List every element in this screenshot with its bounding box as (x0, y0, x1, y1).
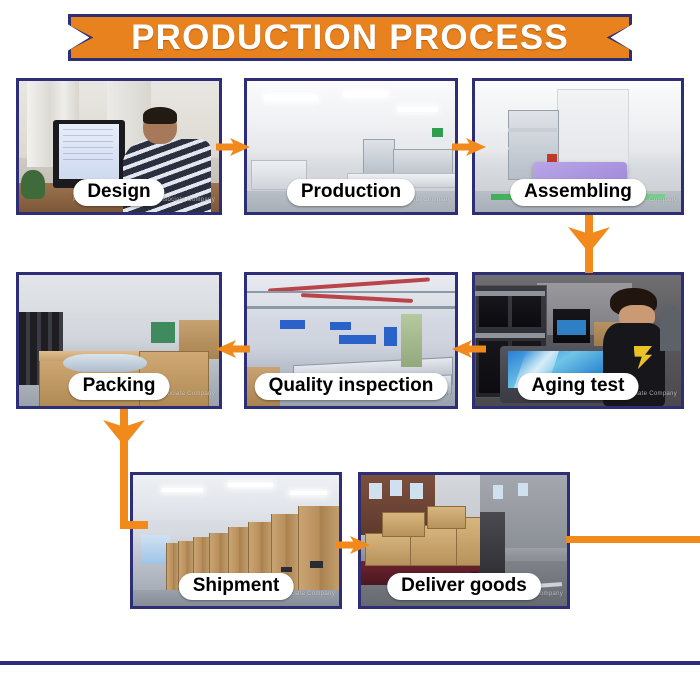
scene-blue-sign-2 (330, 322, 351, 330)
arrow-shaft (336, 542, 356, 549)
scene-ceiling-light-2 (228, 483, 273, 487)
scene-pipe-2 (247, 306, 455, 309)
scene-plant (21, 170, 45, 199)
scene-window-2 (390, 480, 402, 496)
arrow-quality-inspection-to-packing (216, 340, 250, 358)
step-panel-quality-inspection[interactable]: Professional Manufacturer's Associate Co… (244, 272, 458, 409)
step-label-shipment: Shipment (179, 573, 294, 600)
step-panel-design[interactable]: Professional Manufacturer's Associate Co… (16, 78, 222, 215)
scene-window-1 (369, 483, 381, 499)
step-label-assembling: Assembling (510, 179, 646, 206)
step-panel-aging-test[interactable]: Professional Manufacturer's Associate Co… (472, 272, 684, 409)
scene-wall-panel (557, 89, 629, 172)
scene-box-label-1 (281, 567, 291, 572)
scene-ceiling-light-1 (162, 488, 203, 492)
scene-designer-hair (143, 107, 177, 124)
scene-door (401, 314, 422, 366)
step-panel-production[interactable]: Professional Manufacturer's Associate Co… (244, 78, 458, 215)
scene-window-4 (493, 485, 503, 498)
arrow-shaft (230, 346, 250, 353)
scene-cad-drawing (63, 129, 113, 163)
scene-box-label-2 (310, 561, 322, 568)
scene-blue-sign-4 (384, 327, 396, 345)
scene-worker-4 (382, 139, 405, 173)
arrow-shaft (452, 144, 472, 151)
scene-blue-sign-1 (280, 320, 305, 329)
scene-ceiling-light-3 (397, 107, 439, 112)
scene-crate-4 (382, 512, 425, 538)
scene-worker-5 (405, 141, 426, 172)
arrow-aging-test-to-quality-inspection (452, 340, 486, 358)
step-label-design: Design (73, 179, 164, 206)
scene-blue-sign-3 (339, 335, 376, 344)
scene-window-5 (518, 483, 528, 496)
step-panel-assembling[interactable]: Professional Manufacturer's Associate Co… (472, 78, 684, 215)
arrow-design-to-production (216, 138, 250, 156)
step-panel-packing[interactable]: Professional Manufacturer's Associate Co… (16, 272, 222, 409)
scene-window-3 (410, 483, 422, 499)
scene-display-back-screen (557, 320, 586, 336)
scene-stacked-panel-1 (479, 296, 508, 327)
arrow-shaft-vertical (120, 409, 128, 529)
scene-ceiling-light-1 (264, 95, 318, 100)
arrow-shaft (585, 215, 593, 273)
scene-truck-cab (480, 512, 505, 580)
step-label-aging-test: Aging test (518, 373, 639, 400)
step-panel-shipment[interactable]: Professional Manufacturer's Associate Co… (130, 472, 342, 609)
scene-exit-sign (432, 128, 442, 137)
scene-crate-1 (365, 533, 412, 566)
arrow-deliver-goods-to-end (566, 536, 700, 543)
scene-crate-5 (427, 506, 466, 529)
step-label-packing: Packing (69, 373, 170, 400)
scene-ceiling-light-3 (290, 491, 327, 495)
arrow-shaft (216, 144, 236, 151)
arrow-shaft-horizontal (120, 521, 148, 529)
scene-ceiling-light-2 (343, 91, 389, 96)
arrow-shaft (466, 346, 486, 353)
step-panel-deliver-goods[interactable]: Professional Manufacturer's Associate Co… (358, 472, 570, 609)
scene-stacked-panel-2 (512, 296, 541, 327)
bottom-divider (0, 661, 700, 665)
arrow-shipment-to-deliver-goods (336, 536, 370, 554)
scene-rack-bar-2 (475, 333, 545, 338)
scene-worker-blue (63, 320, 95, 365)
page-title: PRODUCTION PROCESS (68, 14, 632, 61)
step-label-deliver-goods: Deliver goods (387, 573, 541, 600)
scene-person-background (660, 306, 681, 351)
scene-pipe-1 (247, 291, 455, 294)
step-label-production: Production (287, 179, 415, 206)
header-banner: PRODUCTION PROCESS (68, 14, 632, 61)
arrow-production-to-assembling (452, 138, 486, 156)
step-label-quality-inspection: Quality inspection (255, 373, 448, 400)
